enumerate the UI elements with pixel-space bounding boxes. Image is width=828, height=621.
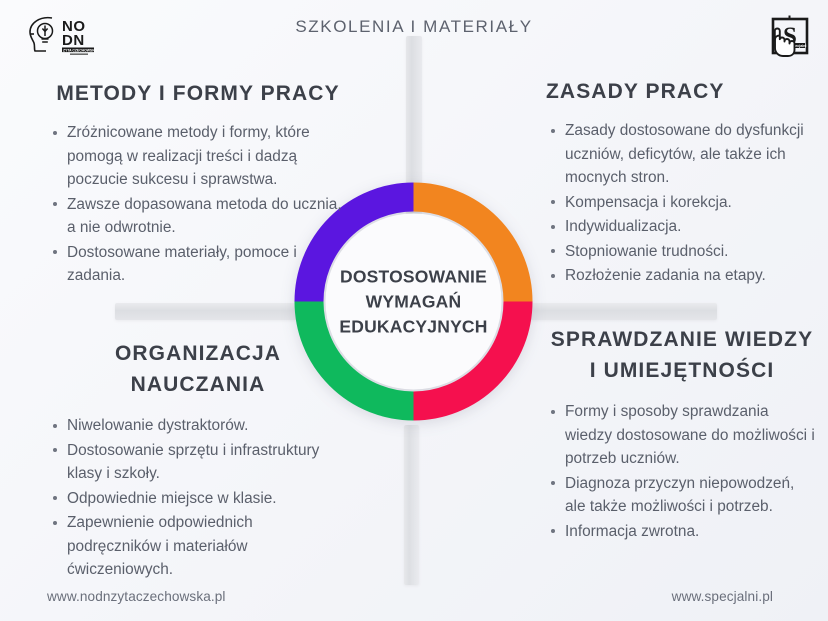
page-title: SZKOLENIA I MATERIAŁY xyxy=(0,17,828,37)
list-item: Stopniowanie trudności. xyxy=(565,240,816,264)
section-organization-title: ORGANIZACJA NAUCZANIA xyxy=(48,338,348,400)
section-methods-list: Zróżnicowane metody i formy, które pomog… xyxy=(48,121,348,288)
infographic-canvas: SZKOLENIA I MATERIAŁY NO DN ZYTA CZECHOW… xyxy=(0,0,828,621)
cross-bar-right xyxy=(519,303,717,320)
list-item: Dostosowanie sprzętu i infrastruktury kl… xyxy=(67,439,348,486)
section-methods-title: METODY I FORMY PRACY xyxy=(48,80,348,107)
donut-center-label: DOSTOSOWANIE WYMAGAŃ EDUKACYJNYCH xyxy=(328,264,500,339)
list-item: Formy i sposoby sprawdzania wiedzy dosto… xyxy=(565,400,818,471)
list-item: Kompensacja i korekcja. xyxy=(565,191,816,215)
section-rules: ZASADY PRACY Zasady dostosowane do dysfu… xyxy=(546,78,816,289)
list-item: Odpowiednie miejsce w klasie. xyxy=(67,487,348,511)
section-assessment: SPRAWDZANIE WIEDZY I UMIEJĘTNOŚCI Formy … xyxy=(546,324,818,544)
cross-bar-bottom xyxy=(404,425,419,585)
list-item: Diagnoza przyczyn niepowodzeń, ale także… xyxy=(565,472,818,519)
section-organization: ORGANIZACJA NAUCZANIA Niwelowanie dystra… xyxy=(48,338,348,583)
section-methods: METODY I FORMY PRACY Zróżnicowane metody… xyxy=(48,80,348,289)
list-item: Zasady dostosowane do dysfunkcji uczniów… xyxy=(565,119,816,190)
footer-url-right[interactable]: www.specjalni.pl xyxy=(672,589,773,604)
cross-bar-left xyxy=(115,303,311,320)
section-rules-title: ZASADY PRACY xyxy=(546,78,816,105)
svg-text:ZYTA CZECHOWSKA: ZYTA CZECHOWSKA xyxy=(63,48,98,52)
center-line-2: WYMAGAŃ xyxy=(328,289,500,314)
list-item: Zawsze dopasowana metoda do ucznia, a ni… xyxy=(67,193,348,240)
nodn-head-lightbulb-logo: NO DN ZYTA CZECHOWSKA xyxy=(26,12,98,56)
specjalni-hand-click-logo: S specjalni xyxy=(762,10,814,60)
list-item: Zapewnienie odpowiednich podręczników i … xyxy=(67,511,348,582)
list-item: Rozłożenie zadania na etapy. xyxy=(565,264,816,288)
center-line-3: EDUKACYJNYCH xyxy=(328,314,500,339)
list-item: Dostosowane materiały, pomoce i zadania. xyxy=(67,241,348,288)
list-item: Niwelowanie dystraktorów. xyxy=(67,414,348,438)
section-assessment-list: Formy i sposoby sprawdzania wiedzy dosto… xyxy=(546,400,818,543)
section-assessment-title: SPRAWDZANIE WIEDZY I UMIEJĘTNOŚCI xyxy=(546,324,818,386)
list-item: Informacja zwrotna. xyxy=(565,520,818,544)
list-item: Zróżnicowane metody i formy, które pomog… xyxy=(67,121,348,192)
section-rules-list: Zasady dostosowane do dysfunkcji uczniów… xyxy=(546,119,816,288)
center-line-1: DOSTOSOWANIE xyxy=(328,264,500,289)
list-item: Indywidualizacja. xyxy=(565,215,816,239)
svg-text:DN: DN xyxy=(62,32,85,49)
footer-url-left[interactable]: www.nodnzytaczechowska.pl xyxy=(47,589,226,604)
section-organization-list: Niwelowanie dystraktorów. Dostosowanie s… xyxy=(48,414,348,582)
